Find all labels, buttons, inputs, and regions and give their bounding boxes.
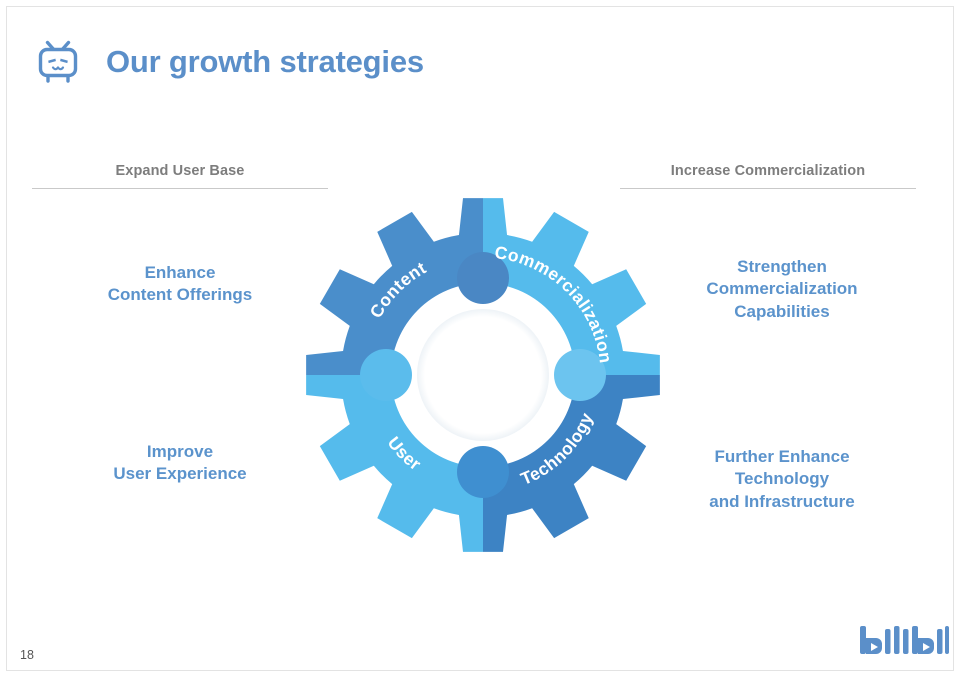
section-header-label: Expand User Base <box>32 163 328 188</box>
page-title: Our growth strategies <box>106 44 424 80</box>
section-header-rule <box>32 188 328 189</box>
section-header-label: Increase Commercialization <box>620 163 916 188</box>
caption-strengthen-commercialization-capabilities: Strengthen Commercialization Capabilitie… <box>660 256 904 323</box>
caption-enhance-content-offerings: Enhance Content Offerings <box>68 262 292 307</box>
gear-diagram: Content Commercialization User Technolog… <box>303 195 663 555</box>
caption-improve-user-experience: Improve User Experience <box>68 441 292 486</box>
bilibili-tv-face-icon <box>32 36 84 88</box>
gear-hub <box>417 309 549 441</box>
section-header-expand-user-base: Expand User Base <box>32 163 328 189</box>
page-number: 18 <box>20 648 34 662</box>
section-header-rule <box>620 188 916 189</box>
connector-bottom-icon <box>457 446 509 498</box>
bilibili-wordmark <box>858 624 950 658</box>
section-header-increase-commercialization: Increase Commercialization <box>620 163 916 189</box>
connector-left-icon <box>360 349 412 401</box>
slide-header: Our growth strategies <box>32 36 424 88</box>
caption-further-enhance-technology-and-infrastructure: Further Enhance Technology and Infrastru… <box>660 446 904 513</box>
slide-canvas: Our growth strategies Expand User Base I… <box>0 0 962 680</box>
